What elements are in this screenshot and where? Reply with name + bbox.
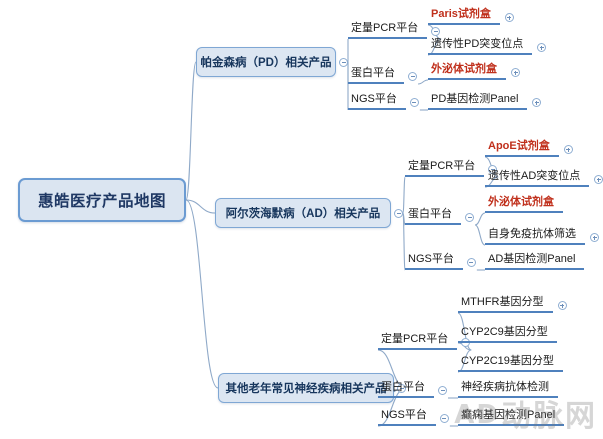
platform-toggle-3-3[interactable] [440,414,449,423]
branch-node-1[interactable]: 帕金森病（PD）相关产品 [196,47,336,77]
platform-node-2-3[interactable]: NGS平台 [405,253,463,270]
root-node[interactable]: 惠皓医疗产品地图 [18,178,186,222]
platform-toggle-2-3[interactable] [467,258,476,267]
branch-toggle-1[interactable] [339,58,348,67]
platform-node-label: NGS平台 [381,408,427,423]
root-node-label: 惠皓医疗产品地图 [38,189,166,211]
leaf-toggle-1-1-1[interactable] [505,13,514,22]
platform-node-3-1[interactable]: 定量PCR平台 [378,333,457,350]
leaf-node-label: 外泌体试剂盒 [431,62,497,77]
branch-node-label: 阿尔茨海默病（AD）相关产品 [226,205,381,221]
platform-toggle-3-2[interactable] [438,386,447,395]
leaf-node-1-2-1[interactable]: 外泌体试剂盒 [428,63,506,80]
leaf-node-3-1-1[interactable]: MTHFR基因分型 [458,296,553,313]
leaf-toggle-2-1-1[interactable] [564,145,573,154]
leaf-toggle-1-1-2[interactable] [537,43,546,52]
platform-toggle-1-1[interactable] [431,27,440,36]
watermark-text: 动脉网 [501,399,597,434]
leaf-toggle-2-2-2[interactable] [590,233,599,242]
platform-node-label: 定量PCR平台 [351,21,418,36]
leaf-node-label: MTHFR基因分型 [461,295,544,310]
platform-node-2-1[interactable]: 定量PCR平台 [405,160,484,177]
leaf-toggle-1-3-1[interactable] [532,98,541,107]
leaf-toggle-2-1-2[interactable] [594,175,603,184]
platform-node-label: 蛋白平台 [351,66,395,81]
platform-node-1-1[interactable]: 定量PCR平台 [348,22,427,39]
platform-node-label: 蛋白平台 [381,380,425,395]
leaf-node-1-1-2[interactable]: 遗传性PD突变位点 [428,38,532,55]
platform-node-3-3[interactable]: NGS平台 [378,409,436,426]
leaf-node-2-1-2[interactable]: 遗传性AD突变位点 [485,170,589,187]
branch-node-label: 其他老年常见神经疾病相关产品 [226,380,387,396]
watermark-badge: AD [454,400,500,430]
leaf-node-3-1-3[interactable]: CYP2C19基因分型 [458,355,563,372]
platform-node-label: NGS平台 [351,92,397,107]
platform-node-label: 定量PCR平台 [408,159,475,174]
platform-node-label: 定量PCR平台 [381,332,448,347]
platform-node-3-2[interactable]: 蛋白平台 [378,381,434,398]
leaf-node-2-3-1[interactable]: AD基因检测Panel [485,253,584,270]
leaf-node-2-1-1[interactable]: ApoE试剂盒 [485,140,559,157]
branch-node-2[interactable]: 阿尔茨海默病（AD）相关产品 [215,198,391,228]
leaf-node-1-3-1[interactable]: PD基因检测Panel [428,93,527,110]
branch-toggle-2[interactable] [394,209,403,218]
platform-node-2-2[interactable]: 蛋白平台 [405,208,461,225]
leaf-node-label: 遗传性PD突变位点 [431,37,523,52]
branch-node-label: 帕金森病（PD）相关产品 [201,54,332,70]
platform-toggle-1-3[interactable] [410,98,419,107]
platform-node-label: 蛋白平台 [408,207,452,222]
watermark: AD动脉网 [454,391,597,435]
leaf-node-label: 外泌体试剂盒 [488,195,554,210]
leaf-node-label: Paris试剂盒 [431,7,491,22]
leaf-node-2-2-1[interactable]: 外泌体试剂盒 [485,196,563,213]
platform-node-1-2[interactable]: 蛋白平台 [348,67,404,84]
leaf-node-label: 遗传性AD突变位点 [488,169,580,184]
leaf-node-label: ApoE试剂盒 [488,139,550,154]
leaf-toggle-3-1-1[interactable] [558,301,567,310]
mindmap-canvas: 惠皓医疗产品地图 帕金森病（PD）相关产品定量PCR平台Paris试剂盒遗传性P… [0,0,603,439]
platform-toggle-2-2[interactable] [465,213,474,222]
platform-node-label: NGS平台 [408,252,454,267]
leaf-toggle-1-2-1[interactable] [511,68,520,77]
leaf-node-label: AD基因检测Panel [488,252,575,267]
leaf-node-label: PD基因检测Panel [431,92,518,107]
leaf-node-3-1-2[interactable]: CYP2C9基因分型 [458,326,557,343]
leaf-node-2-2-2[interactable]: 自身免疫抗体筛选 [485,228,585,245]
leaf-node-label: CYP2C9基因分型 [461,325,548,340]
leaf-node-1-1-1[interactable]: Paris试剂盒 [428,8,500,25]
platform-node-1-3[interactable]: NGS平台 [348,93,406,110]
leaf-node-label: CYP2C19基因分型 [461,354,554,369]
platform-toggle-1-2[interactable] [408,72,417,81]
leaf-node-label: 自身免疫抗体筛选 [488,227,576,242]
branch-node-3[interactable]: 其他老年常见神经疾病相关产品 [218,373,394,403]
